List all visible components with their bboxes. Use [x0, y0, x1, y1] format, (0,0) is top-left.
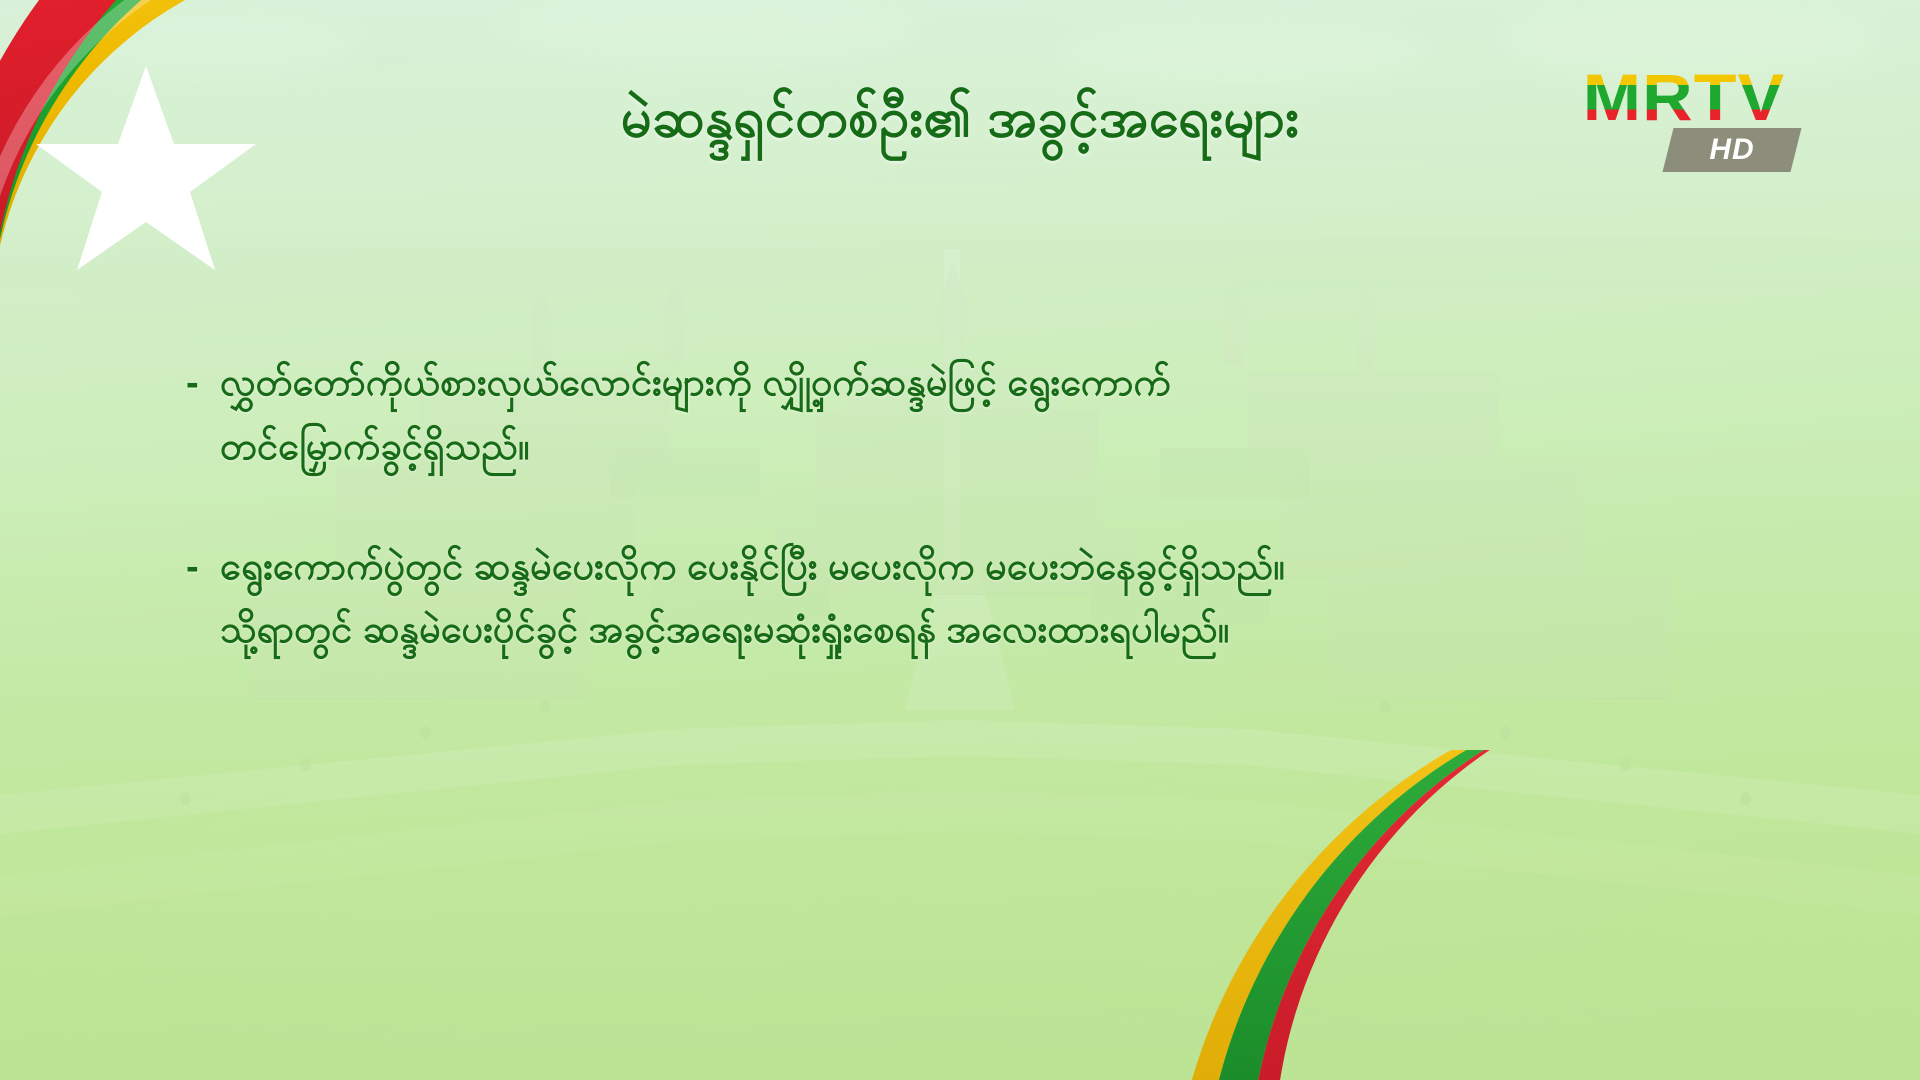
slide-title: မဲဆန္ဒရှင်တစ်ဦး၏ အခွင့်အရေးများ	[0, 84, 1920, 163]
bullet-line: ရွေးကောက်ပွဲတွင် ဆန္ဒမဲပေးလိုက ပေးနိုင်ပ…	[220, 536, 1746, 600]
bullet-line: သို့ရာတွင် ဆန္ဒမဲပေးပိုင်ခွင့် အခွင့်အရေ…	[220, 599, 1746, 663]
bullet-paragraph: - ရွေးကောက်ပွဲတွင် ဆန္ဒမဲပေးလိုက ပေးနိုင…	[186, 536, 1746, 664]
bullet-line: တင်မြှောက်ခွင့်ရှိသည်။	[220, 416, 1746, 480]
bullet-text: ရွေးကောက်ပွဲတွင် ဆန္ဒမဲပေးလိုက ပေးနိုင်ပ…	[220, 536, 1746, 664]
bullet-marker: -	[186, 352, 216, 416]
bullet-marker: -	[186, 536, 216, 600]
broadcast-slide: MRTV HD မဲဆန္ဒရှင်တစ်ဦး၏ အခွင့်အရေးများ …	[0, 0, 1920, 1080]
slide-body: - လွှတ်တော်ကိုယ်စားလှယ်လောင်းများကို လျှ…	[186, 352, 1746, 719]
bullet-line: လွှတ်တော်ကိုယ်စားလှယ်လောင်းများကို လျှို…	[220, 352, 1746, 416]
bullet-text: လွှတ်တော်ကိုယ်စားလှယ်လောင်းများကို လျှို…	[220, 352, 1746, 480]
bullet-paragraph: - လွှတ်တော်ကိုယ်စားလှယ်လောင်းများကို လျှ…	[186, 352, 1746, 480]
